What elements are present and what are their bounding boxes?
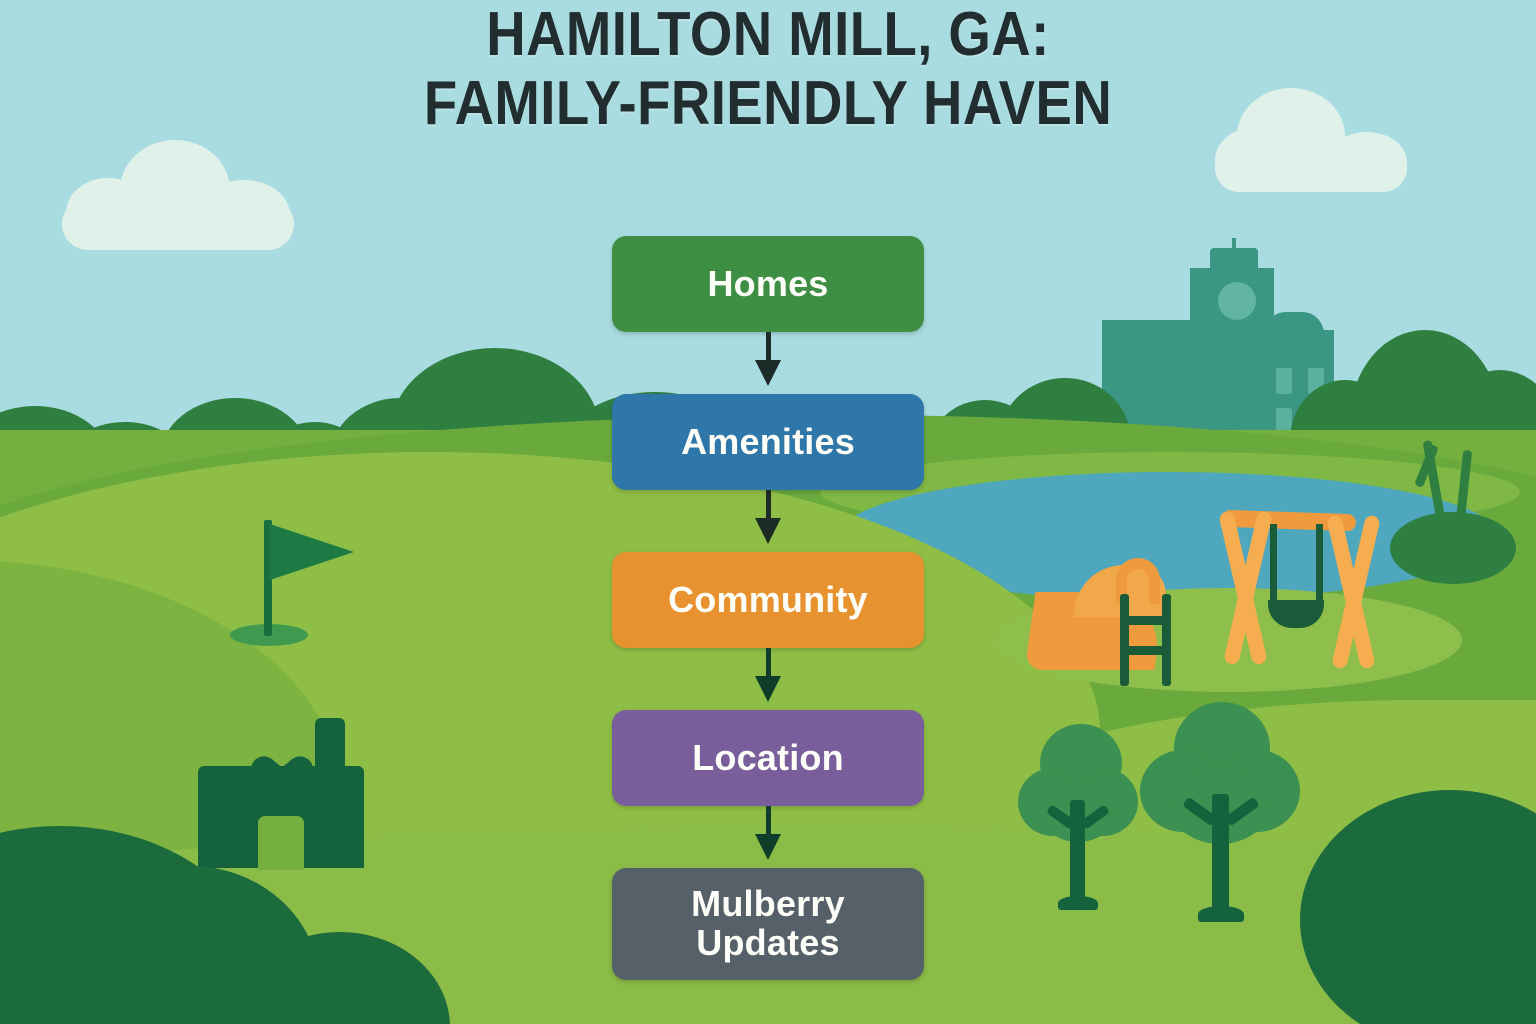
flow-node-homes[interactable]: Homes (612, 236, 924, 332)
house-icon (170, 676, 390, 866)
flow-arrow-4 (753, 806, 783, 868)
tree (1018, 724, 1138, 914)
flowchart: Homes Amenities Community Location Mulbe… (612, 236, 924, 980)
flow-node-amenities[interactable]: Amenities (612, 394, 924, 490)
flow-arrow-2 (753, 490, 783, 552)
infographic-canvas: Homes Amenities Community Location Mulbe… (0, 0, 1536, 1024)
flow-arrow-3 (753, 648, 783, 710)
bush (1390, 512, 1516, 584)
flow-node-community[interactable]: Community (612, 552, 924, 648)
flow-node-location[interactable]: Location (612, 710, 924, 806)
flow-arrow-1 (753, 332, 783, 394)
tree (1140, 702, 1300, 922)
flow-node-mulberry-updates[interactable]: Mulberry Updates (612, 868, 924, 980)
